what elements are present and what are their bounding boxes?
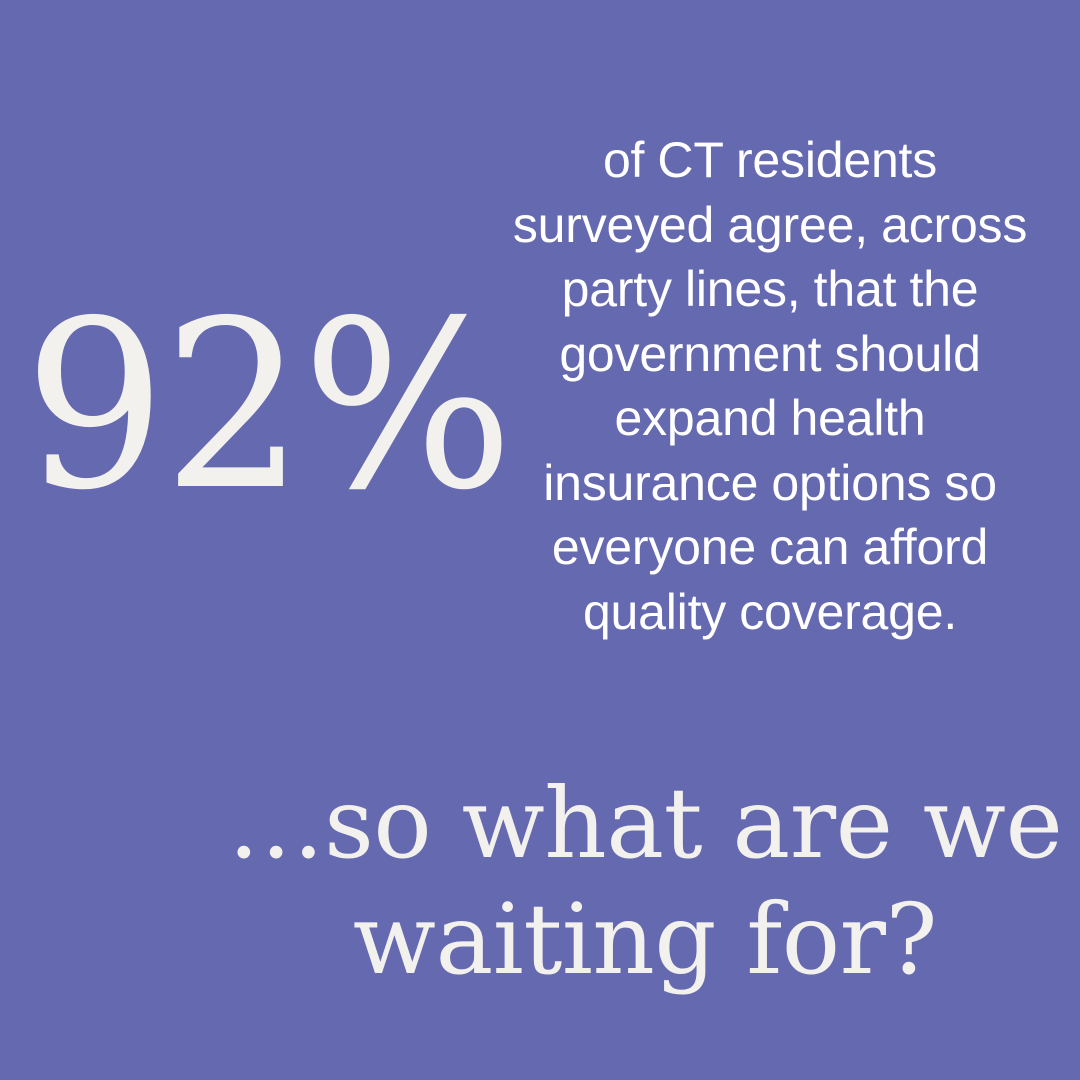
body-copy-line: everyone can afford bbox=[470, 515, 1070, 580]
tagline-line: waiting for? bbox=[90, 882, 1080, 998]
body-copy: of CT residents surveyed agree, across p… bbox=[470, 128, 1070, 644]
body-copy-line: quality coverage. bbox=[470, 580, 1070, 645]
body-copy-line: party lines, that the bbox=[470, 257, 1070, 322]
body-copy-line: government should bbox=[470, 322, 1070, 387]
social-graphic-canvas: 92% of CT residents surveyed agree, acro… bbox=[0, 0, 1080, 1080]
tagline-line: …so what are we bbox=[90, 766, 1080, 882]
closing-tagline: …so what are we waiting for? bbox=[90, 766, 1080, 998]
body-copy-line: insurance options so bbox=[470, 451, 1070, 516]
statistic-block: 92% bbox=[0, 266, 480, 546]
body-copy-line: surveyed agree, across bbox=[470, 193, 1070, 258]
body-copy-line: of CT residents bbox=[470, 128, 1070, 193]
body-copy-line: expand health bbox=[470, 386, 1070, 451]
statistic-value: 92% bbox=[24, 296, 511, 516]
